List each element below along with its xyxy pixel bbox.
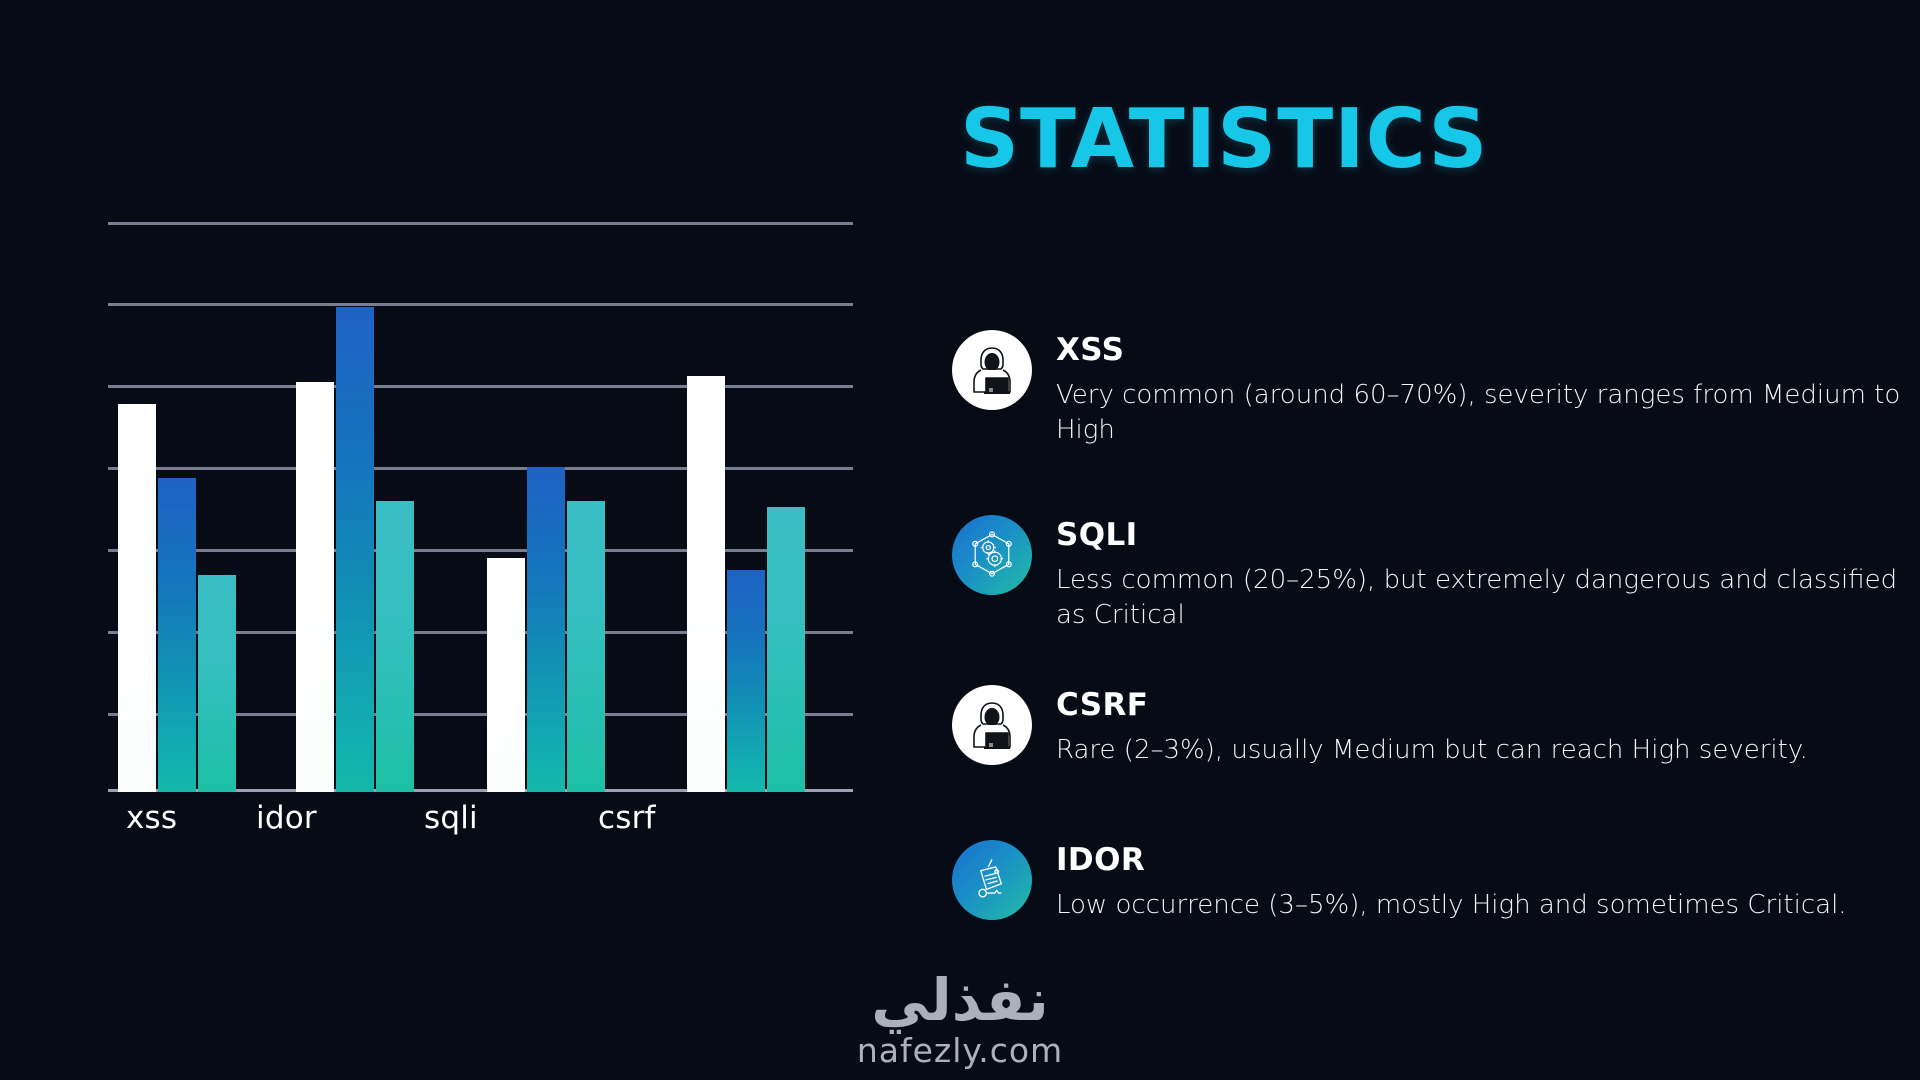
stat-item-description: Low occurrence (3–5%), mostly High and s…: [1056, 888, 1906, 923]
stat-item-description: Rare (2–3%), usually Medium but can reac…: [1056, 733, 1906, 768]
bar-xss-series-3: [198, 575, 236, 792]
bar-csrf-series-1: [687, 376, 725, 792]
slide-root: xssidorsqlicsrf STATISTICS XSS: [0, 0, 1920, 1080]
bar-sqli-series-1: [487, 558, 525, 792]
bar-xss-series-2: [158, 478, 196, 792]
x-axis-labels: xssidorsqlicsrf: [108, 800, 853, 860]
key-document-access-icon: [952, 840, 1032, 920]
bar-xss-series-1: [118, 404, 156, 792]
bar-sqli-series-2: [527, 467, 565, 792]
bar-group: [108, 222, 284, 792]
hacker-hooded-laptop-icon: [952, 330, 1032, 410]
bar-csrf-series-2: [727, 570, 765, 792]
watermark-arabic: نفذلي: [0, 970, 1920, 1031]
bar-idor-series-2: [336, 307, 374, 792]
stat-item-heading: XSS: [1056, 332, 1124, 368]
x-axis-label-sqli: sqli: [424, 800, 478, 836]
page-title: STATISTICS: [960, 92, 1488, 187]
bar-csrf-series-3: [767, 507, 805, 792]
content-panel: STATISTICS XSS Very common (around 60–70…: [900, 0, 1920, 1080]
x-axis-label-csrf: csrf: [598, 800, 656, 836]
x-axis-label-xss: xss: [126, 800, 177, 836]
bar-sqli-series-3: [567, 501, 605, 792]
bar-idor-series-3: [376, 501, 414, 792]
bar-group: [463, 222, 653, 792]
stat-item-heading: IDOR: [1056, 842, 1145, 878]
bar-group: [653, 222, 853, 792]
stat-item-description: Less common (20–25%), but extremely dang…: [1056, 563, 1906, 632]
bar-chart-plot-area: [108, 222, 853, 792]
bar-group: [284, 222, 462, 792]
watermark: نفذلي nafezly.com: [0, 970, 1920, 1070]
x-axis-label-idor: idor: [256, 800, 317, 836]
chart-panel: xssidorsqlicsrf: [0, 0, 900, 1080]
stat-item-heading: SQLI: [1056, 517, 1138, 553]
bar-groups: [108, 222, 853, 792]
hacker-hooded-laptop-icon: [952, 685, 1032, 765]
stat-item-heading: CSRF: [1056, 687, 1148, 723]
database-network-gear-icon: [952, 515, 1032, 595]
bar-idor-series-1: [296, 382, 334, 792]
watermark-latin: nafezly.com: [0, 1031, 1920, 1070]
stat-item-description: Very common (around 60–70%), severity ra…: [1056, 378, 1906, 447]
